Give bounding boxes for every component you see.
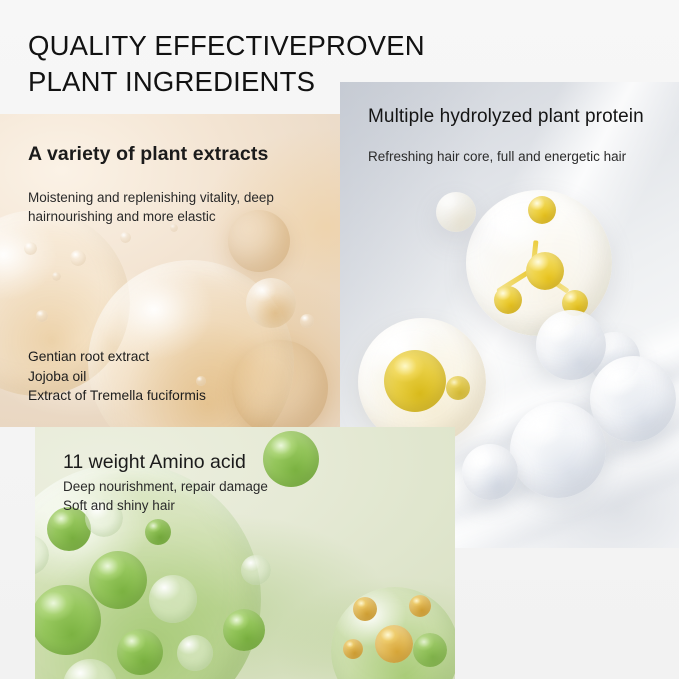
green-bubble-icon: [223, 609, 265, 651]
small-clear-bubble-icon: [246, 278, 296, 328]
molecule-node-icon: [494, 286, 522, 314]
gold-droplet-icon: [353, 597, 377, 621]
gold-droplet-icon: [375, 625, 413, 663]
gold-droplet-icon: [343, 639, 363, 659]
green-bubble-icon: [117, 629, 163, 675]
clear-bubble-icon: [149, 575, 197, 623]
plant-extracts-title: A variety of plant extracts: [28, 141, 318, 167]
micro-bubble-icon: [52, 272, 61, 281]
green-bubble-icon: [35, 585, 101, 655]
panel-plant-extracts: A variety of plant extracts Moistening a…: [0, 114, 340, 427]
green-bubble-icon: [89, 551, 147, 609]
clear-sphere-icon: [510, 402, 606, 498]
page-title: QUALITY EFFECTIVEPROVEN PLANT INGREDIENT…: [28, 28, 488, 100]
plant-protein-description: Refreshing hair core, full and energetic…: [368, 147, 668, 166]
plant-extracts-description: Moistening and replenishing vitality, de…: [28, 188, 310, 226]
amino-acid-title: 11 weight Amino acid: [63, 449, 363, 475]
clear-sphere-icon: [590, 356, 676, 442]
panel-amino-acid: 11 weight Amino acid Deep nourishment, r…: [35, 427, 455, 679]
micro-bubble-icon: [300, 314, 314, 328]
oil-core-icon: [446, 376, 470, 400]
molecule-sphere-icon: [466, 190, 612, 336]
plant-protein-title: Multiple hydrolyzed plant protein: [368, 104, 673, 130]
plant-extracts-ingredient-list: Gentian root extract Jojoba oil Extract …: [28, 347, 328, 406]
clear-bubble-icon: [241, 555, 271, 585]
clear-bubble-icon: [177, 635, 213, 671]
molecule-node-icon: [526, 252, 564, 290]
amino-acid-description: Deep nourishment, repair damage Soft and…: [63, 477, 363, 515]
clear-sphere-icon: [536, 310, 606, 380]
green-bubble-icon: [413, 633, 447, 667]
micro-bubble-icon: [36, 310, 48, 322]
molecule-node-icon: [528, 196, 556, 224]
micro-bubble-icon: [70, 250, 86, 266]
green-bubble-icon: [145, 519, 171, 545]
micro-bubble-icon: [24, 242, 37, 255]
gold-droplet-icon: [409, 595, 431, 617]
oil-core-icon: [384, 350, 446, 412]
clear-bubble-icon: [63, 659, 117, 679]
micro-bubble-icon: [120, 232, 131, 243]
product-feature-graphic: QUALITY EFFECTIVEPROVEN PLANT INGREDIENT…: [0, 0, 679, 679]
small-molecule-bubble-icon: [436, 192, 476, 232]
clear-sphere-icon: [462, 444, 518, 500]
clear-bubble-icon: [35, 535, 49, 575]
